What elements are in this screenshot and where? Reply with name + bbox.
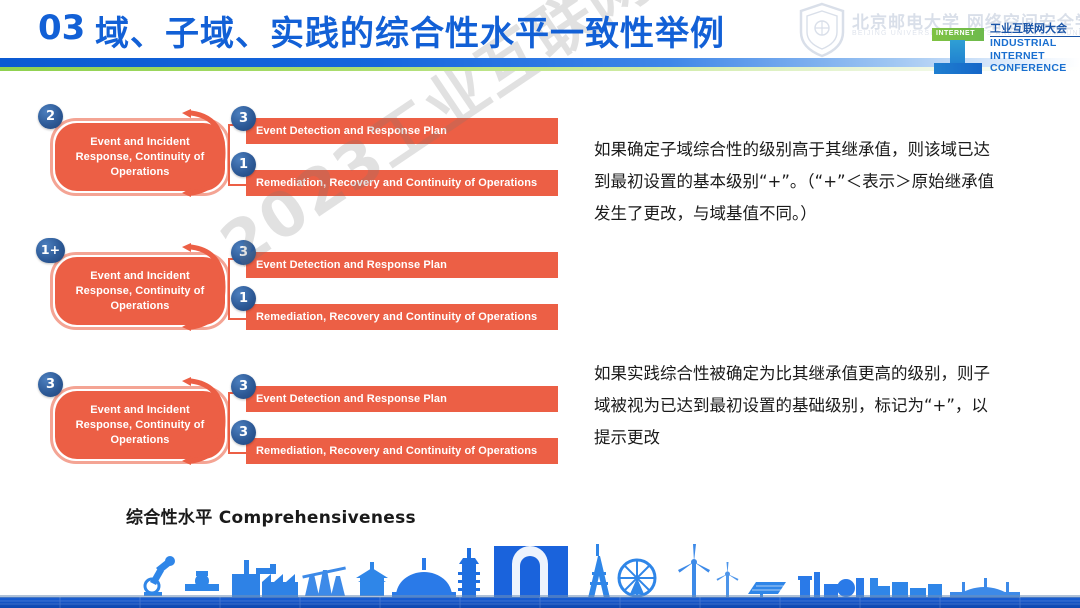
practice-badge-2-2: 1 bbox=[231, 286, 256, 311]
logo-blue-bar bbox=[934, 63, 982, 74]
header-rule-blue bbox=[0, 58, 1080, 67]
practice-bar-2-2: Remediation, Recovery and Continuity of … bbox=[246, 304, 558, 330]
page-title: 域、子域、实践的综合性水平一致性举例 bbox=[95, 6, 725, 55]
conference-logo-text: 工业互联网大会 INDUSTRIAL INTERNET CONFERENCE bbox=[990, 22, 1080, 75]
pavilion-icon bbox=[356, 562, 388, 596]
section-number: 03 bbox=[38, 8, 85, 48]
domain-badge-3: 3 bbox=[38, 372, 63, 397]
valve-icon bbox=[185, 571, 219, 591]
diagram-group-2: 1+ Event and Incident Response, Continui… bbox=[38, 238, 558, 334]
practice-bar-3-2: Remediation, Recovery and Continuity of … bbox=[246, 438, 558, 464]
conference-name-en-3: CONFERENCE bbox=[990, 62, 1080, 75]
footer-skyline-decoration bbox=[0, 538, 1080, 608]
gate-towers-icon bbox=[494, 546, 568, 598]
robot-arm-icon bbox=[144, 556, 175, 596]
practice-bar-2-1: Event Detection and Response Plan bbox=[246, 252, 558, 278]
crane-icon bbox=[302, 566, 346, 596]
skyline-icon bbox=[0, 538, 1080, 608]
refinery-icon bbox=[798, 572, 864, 598]
conference-logo: INTERNET 工业互联网大会 INDUSTRIAL INTERNET CON… bbox=[932, 22, 1080, 76]
eiffel-tower-icon bbox=[588, 544, 610, 598]
bridge-icon bbox=[950, 578, 1020, 597]
wind-turbine-icon-2 bbox=[717, 562, 739, 598]
diagram-group-1: 2 Event and Incident Response, Continuit… bbox=[38, 104, 558, 200]
slide-root: 2023工业互联网大会 03 域、子域、实践的综合性水平一致性举例 北京邮电大学… bbox=[0, 0, 1080, 608]
diagram-group-3: 3 Event and Incident Response, Continuit… bbox=[38, 372, 558, 468]
practice-bar-3-1: Event Detection and Response Plan bbox=[246, 386, 558, 412]
practice-badge-3-2: 3 bbox=[231, 420, 256, 445]
domain-loop-arrow-icon-3 bbox=[41, 377, 227, 465]
domain-badge-2: 1+ bbox=[36, 238, 65, 263]
header-rule-green bbox=[0, 67, 1080, 71]
domain-loop-arrow-icon-2 bbox=[41, 243, 227, 331]
dome-building-icon bbox=[392, 558, 456, 598]
pagoda-tower-icon bbox=[458, 548, 480, 598]
wind-turbine-icon bbox=[678, 544, 710, 598]
domain-badge-1: 2 bbox=[38, 104, 63, 129]
practice-bar-1-2: Remediation, Recovery and Continuity of … bbox=[246, 170, 558, 196]
logo-mark-label: INTERNET bbox=[936, 30, 975, 37]
note-paragraph-2: 如果实践综合性被确定为比其继承值更高的级别，则子域被视为已达到最初设置的基础级别… bbox=[594, 358, 998, 454]
conference-logo-mark-icon: INTERNET bbox=[932, 24, 984, 74]
practice-badge-2-1: 3 bbox=[231, 240, 256, 265]
practice-bar-1-1: Event Detection and Response Plan bbox=[246, 118, 558, 144]
axis-caption: 综合性水平 Comprehensiveness bbox=[126, 503, 416, 528]
practice-badge-1-1: 3 bbox=[231, 106, 256, 131]
conference-name-en-2: INTERNET bbox=[990, 50, 1080, 63]
conference-name-cn: 工业互联网大会 bbox=[990, 22, 1080, 37]
slide-header: 03 域、子域、实践的综合性水平一致性举例 bbox=[0, 0, 1080, 72]
practice-badge-3-1: 3 bbox=[231, 374, 256, 399]
factory-icon bbox=[232, 560, 298, 598]
domain-loop-arrow-icon-1 bbox=[41, 109, 227, 197]
practice-badge-1-2: 1 bbox=[231, 152, 256, 177]
ferris-wheel-icon bbox=[619, 560, 655, 596]
conference-name-en-1: INDUSTRIAL bbox=[990, 37, 1080, 50]
note-paragraph-1: 如果确定子域综合性的级别高于其继承值，则该域已达到最初设置的基本级别“+”。（“… bbox=[594, 134, 998, 230]
